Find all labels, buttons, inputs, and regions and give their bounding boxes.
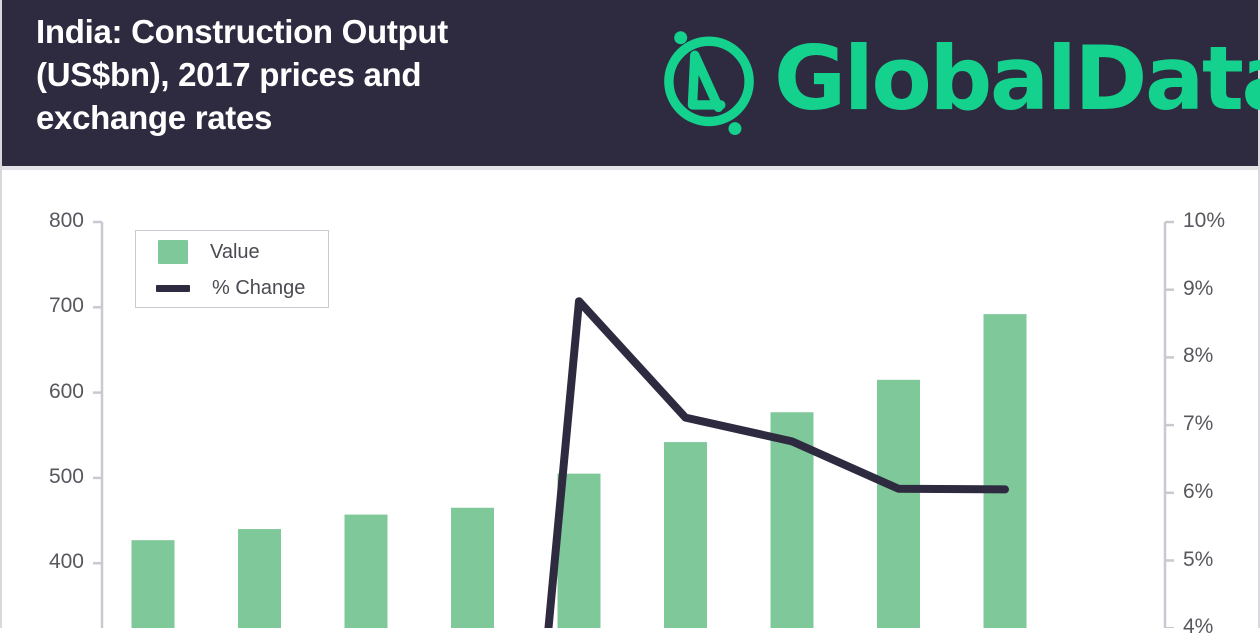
y-axis-right-tick-label: 8% — [1183, 344, 1253, 368]
y-axis-right-tick-label: 4% — [1183, 615, 1253, 639]
page-title: India: Construction Output (US$bn), 2017… — [36, 10, 616, 139]
bar-2 — [238, 529, 281, 628]
chart-container: Value % Change — [2, 170, 1258, 628]
y-axis-right-tick-label: 6% — [1183, 480, 1253, 504]
y-axis-right-tick-label: 7% — [1183, 412, 1253, 436]
chart-page: India: Construction Output (US$bn), 2017… — [0, 0, 1260, 628]
brand-logo: GlobalData. — [650, 18, 1260, 140]
brand-name: GlobalData. — [774, 35, 1260, 123]
bar-6 — [664, 442, 707, 628]
bar-8 — [877, 380, 920, 628]
globaldata-circle-slash-icon — [650, 20, 768, 138]
bar-4 — [451, 508, 494, 628]
chart-legend: Value % Change — [135, 230, 329, 308]
y-axis-left-tick-label: 400 — [14, 550, 84, 574]
y-axis-left-tick-label: 600 — [14, 380, 84, 404]
legend-item-pct-change: % Change — [136, 270, 328, 306]
bar-9 — [984, 314, 1027, 628]
legend-label-value: Value — [210, 241, 260, 264]
bar-1 — [132, 540, 175, 628]
y-axis-left-tick-label: 700 — [14, 294, 84, 318]
y-axis-right-tick-label: 9% — [1183, 277, 1253, 301]
legend-label-pct-change: % Change — [212, 277, 305, 300]
legend-swatch-pct-change — [156, 285, 190, 292]
y-axis-left-tick-label: 800 — [14, 209, 84, 233]
y-axis-right-tick-label: 10% — [1183, 209, 1253, 233]
y-axis-left-tick-label: 500 — [14, 465, 84, 489]
y-axis-right-tick-label: 5% — [1183, 548, 1253, 572]
bar-3 — [345, 515, 388, 628]
legend-item-value: Value — [136, 234, 328, 270]
header-banner: India: Construction Output (US$bn), 2017… — [2, 0, 1258, 170]
legend-swatch-value — [158, 240, 188, 264]
